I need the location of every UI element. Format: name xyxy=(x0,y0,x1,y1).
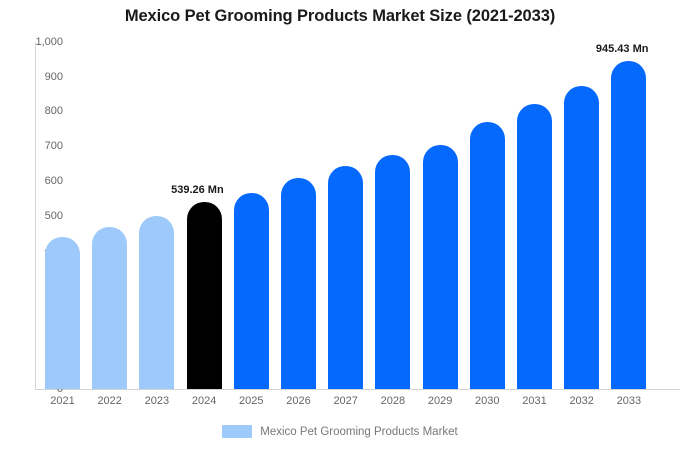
x-axis-tick-2025: 2025 xyxy=(234,395,269,407)
bar-2030[interactable] xyxy=(470,122,505,389)
x-axis-tick-2024: 2024 xyxy=(187,395,222,407)
x-axis-tick-2032: 2032 xyxy=(564,395,599,407)
chart-legend: Mexico Pet Grooming Products Market xyxy=(0,425,680,438)
legend-item-label: Mexico Pet Grooming Products Market xyxy=(260,426,458,438)
y-axis-tick: 600 xyxy=(3,175,63,187)
x-axis-tick-2033: 2033 xyxy=(611,395,646,407)
x-axis-tick-2031: 2031 xyxy=(517,395,552,407)
y-axis-tick: 800 xyxy=(3,105,63,117)
x-axis-tick-2023: 2023 xyxy=(139,395,174,407)
bar-2027[interactable] xyxy=(328,166,363,389)
y-axis-tick: 700 xyxy=(3,140,63,152)
bar-2026[interactable] xyxy=(281,178,316,389)
bar-2031[interactable] xyxy=(517,104,552,389)
plot-area: 01002003004005006007008009001,000 xyxy=(35,42,680,389)
y-axis-tick: 500 xyxy=(3,210,63,222)
x-axis-line xyxy=(35,389,680,390)
x-axis-tick-2026: 2026 xyxy=(281,395,316,407)
bar-chart: Mexico Pet Grooming Products Market Size… xyxy=(0,0,680,450)
x-axis-tick-2022: 2022 xyxy=(92,395,127,407)
bar-2033[interactable] xyxy=(611,61,646,389)
bar-2025[interactable] xyxy=(234,193,269,389)
bar-2029[interactable] xyxy=(423,145,458,389)
bar-2023[interactable] xyxy=(139,216,174,389)
y-axis-tick: 900 xyxy=(3,71,63,83)
chart-title: Mexico Pet Grooming Products Market Size… xyxy=(0,7,680,26)
data-label-2033: 945.43 Mn xyxy=(596,43,649,55)
x-axis-tick-2027: 2027 xyxy=(328,395,363,407)
x-axis-tick-2030: 2030 xyxy=(470,395,505,407)
bar-2022[interactable] xyxy=(92,227,127,389)
y-axis-tick: 1,000 xyxy=(3,36,63,48)
bar-2028[interactable] xyxy=(375,155,410,389)
x-axis-tick-2029: 2029 xyxy=(423,395,458,407)
bar-2024[interactable] xyxy=(187,202,222,389)
legend-swatch-icon xyxy=(222,425,252,438)
x-axis-tick-2028: 2028 xyxy=(375,395,410,407)
x-axis-tick-2021: 2021 xyxy=(45,395,80,407)
bar-2032[interactable] xyxy=(564,86,599,389)
bar-2021[interactable] xyxy=(45,237,80,389)
data-label-2024: 539.26 Mn xyxy=(171,184,224,196)
